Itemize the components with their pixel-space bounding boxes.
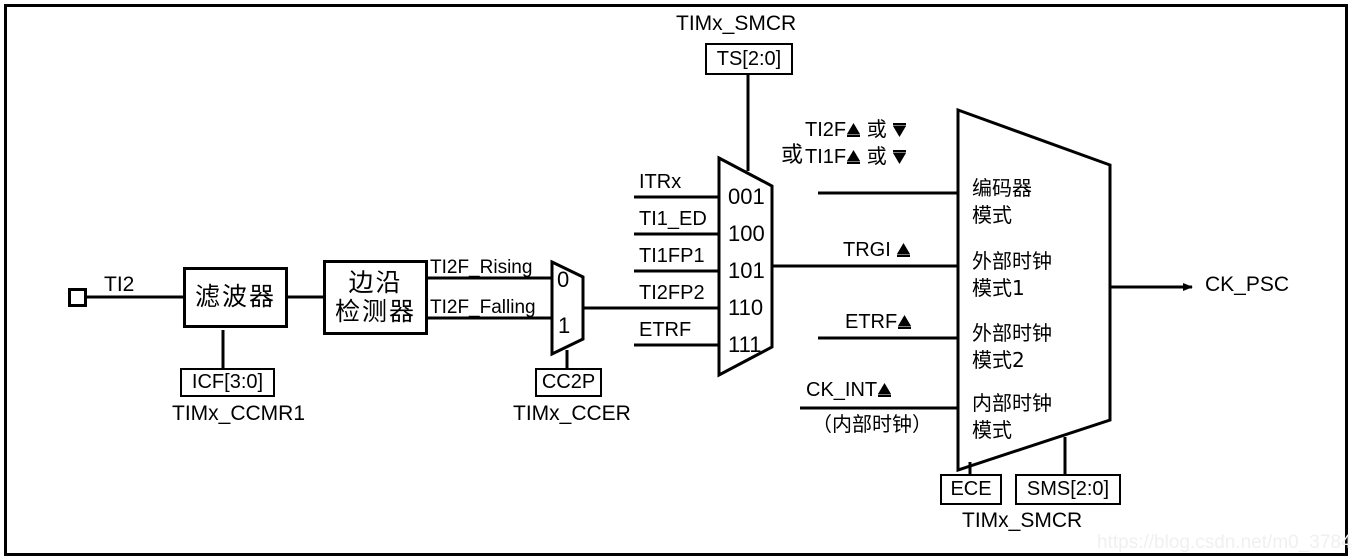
filter-label: 滤波器	[195, 283, 276, 312]
diagram-canvas: TI2 滤波器 ICF[3:0] TIMx_CCMR1 边沿 检测器 TI2F_…	[0, 0, 1352, 560]
trigger-input-label-ti1fp1: TI1FP1	[639, 246, 705, 266]
rising-edge-icon	[846, 149, 861, 169]
falling-edge-icon	[892, 122, 907, 142]
trgi-input-label: TRGI	[843, 240, 911, 262]
edge-detector-label-1: 边沿	[348, 269, 402, 298]
mode-int-line2: 模式	[972, 417, 1052, 444]
ti1f-label: TI1F	[805, 146, 846, 168]
ti2-input-terminal[interactable]	[68, 288, 87, 307]
mode-int-line1: 内部时钟	[972, 390, 1052, 417]
falling-edge-icon	[892, 149, 907, 169]
edge-detector-label-2: 检测器	[335, 298, 416, 327]
trigger-mux-code-110: 110	[728, 295, 763, 321]
encoder-or-word-1: 或	[867, 119, 887, 141]
encoder-or-word-2: 或	[867, 146, 887, 168]
ece-control-box[interactable]: ECE	[940, 474, 1002, 505]
mode-ext2-line2: 模式2	[972, 347, 1052, 374]
rising-edge-icon	[896, 242, 911, 262]
trigger-input-label-ti2fp2: TI2FP2	[639, 283, 705, 303]
ckint-sub-label: （内部时钟）	[812, 411, 932, 438]
trigger-input-label-ti1ed: TI1_ED	[639, 209, 707, 229]
encoder-input-line-ti1f: TI1F 或	[805, 147, 907, 169]
ti2-signal-label: TI2	[104, 274, 134, 295]
icf-control-box[interactable]: ICF[3:0]	[180, 368, 275, 397]
trigger-mux-code-001: 001	[728, 184, 765, 210]
etrf-label: ETRF	[845, 311, 897, 333]
etrf-input-label: ETRF	[845, 312, 912, 334]
trigger-mux-code-100: 100	[728, 221, 765, 247]
ck-int-label: CK_INT	[806, 379, 877, 401]
mode-label-encoder: 编码器 模式	[972, 175, 1032, 229]
ckint-input-label: CK_INT	[806, 380, 892, 402]
trigger-mux-code-101: 101	[728, 258, 765, 284]
rising-edge-icon	[877, 382, 892, 402]
polarity-mux-input0-label: 0	[557, 267, 569, 293]
ti2f-rising-label: TI2F_Rising	[430, 258, 532, 277]
ck-psc-output-label: CK_PSC	[1205, 274, 1289, 295]
edge-detector-block: 边沿 检测器	[323, 260, 428, 335]
trigger-mux-code-111: 111	[728, 332, 761, 358]
cc2p-control-box[interactable]: CC2P	[535, 368, 602, 397]
polarity-mux-input1-label: 1	[558, 313, 570, 339]
filter-block: 滤波器	[183, 267, 288, 328]
encoder-or-prefix: 或	[781, 137, 803, 169]
mode-ext1-line1: 外部时钟	[972, 248, 1052, 275]
timx-smcr-bottom-register-label: TIMx_SMCR	[962, 510, 1082, 531]
timx-ccmr1-register-label: TIMx_CCMR1	[172, 403, 305, 424]
mode-label-ext-clock-1: 外部时钟 模式1	[972, 248, 1052, 302]
ts-control-box[interactable]: TS[2:0]	[705, 43, 793, 75]
rising-edge-icon	[846, 122, 861, 142]
sms-control-box[interactable]: SMS[2:0]	[1015, 474, 1121, 505]
mode-encoder-line2: 模式	[972, 202, 1032, 229]
watermark: https://blog.csdn.net/m0_37845735	[1097, 532, 1352, 554]
rising-edge-icon	[897, 314, 912, 334]
timx-ccer-register-label: TIMx_CCER	[513, 403, 631, 424]
mode-label-int-clock: 内部时钟 模式	[972, 390, 1052, 444]
trigger-input-label-itrx: ITRx	[639, 172, 681, 192]
ti2f-label: TI2F	[805, 119, 846, 141]
trigger-input-label-etrf: ETRF	[639, 320, 691, 340]
mode-ext2-line1: 外部时钟	[972, 320, 1052, 347]
encoder-input-line-ti2f: TI2F 或	[805, 120, 907, 142]
mode-label-ext-clock-2: 外部时钟 模式2	[972, 320, 1052, 374]
ti2f-falling-label: TI2F_Falling	[430, 298, 536, 317]
mode-encoder-line1: 编码器	[972, 175, 1032, 202]
trgi-label: TRGI	[843, 239, 891, 261]
mode-ext1-line2: 模式1	[972, 275, 1052, 302]
timx-smcr-top-register-label: TIMx_SMCR	[676, 13, 796, 34]
